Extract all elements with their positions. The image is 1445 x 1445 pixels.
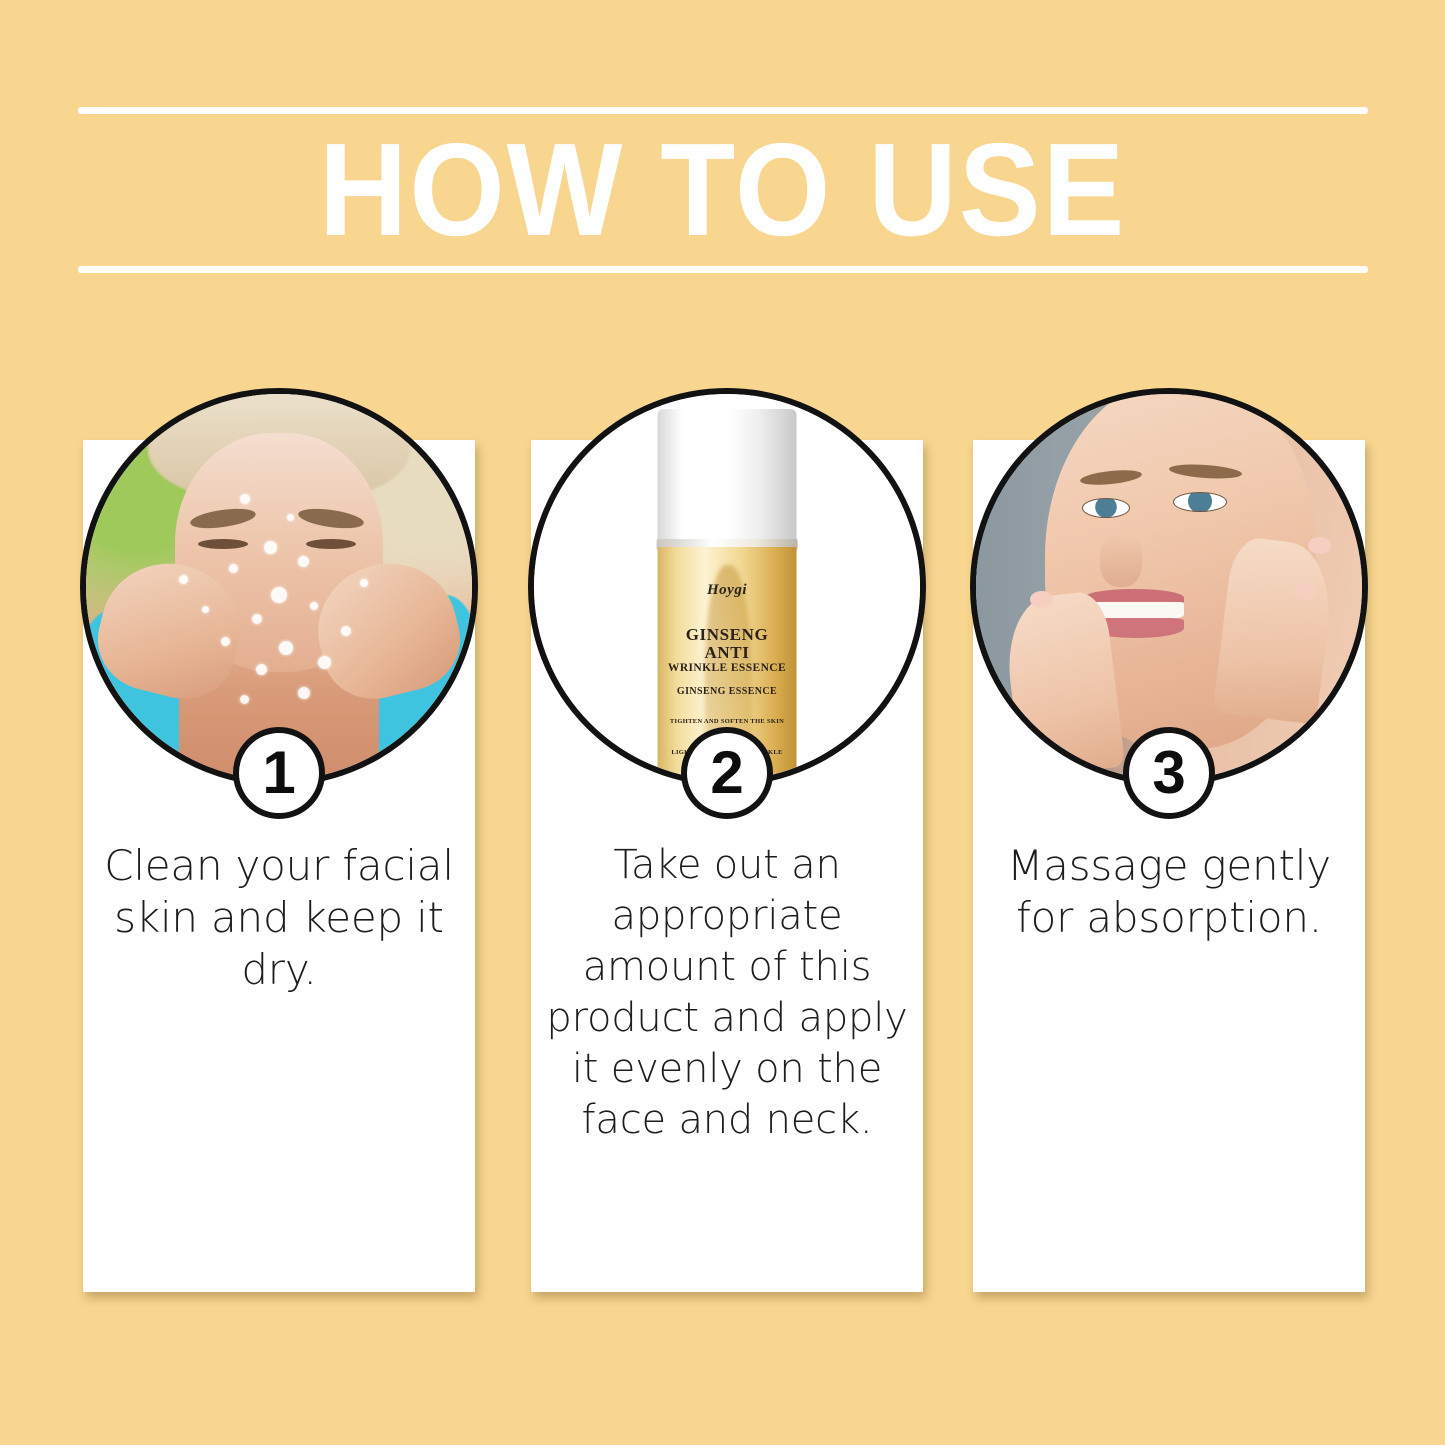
photo-woman-washing-face <box>86 394 472 780</box>
step-caption-1: Clean your facial skin and keep it dry. <box>97 840 461 996</box>
label-line-5: TIGHTEN AND SOFTEN THE SKIN <box>658 717 797 726</box>
step-caption-2: Take out an appropriate amount of this p… <box>545 840 909 1146</box>
steps-container: 1 Clean your facial skin and keep it dry… <box>0 0 1445 1445</box>
label-line-1: GINSENG <box>658 625 797 645</box>
step-card-1[interactable]: 1 Clean your facial skin and keep it dry… <box>83 440 475 1292</box>
photo-woman-massaging-face <box>976 394 1362 780</box>
step-number-badge-3: 3 <box>1123 727 1215 819</box>
bottle-cap <box>658 409 797 541</box>
label-line-4: GINSENG ESSENCE <box>658 686 797 697</box>
photo-product-bottle: Hoygi GINSENG ANTI WRINKLE ESSENCE GINSE… <box>534 394 920 780</box>
label-line-3: WRINKLE ESSENCE <box>658 662 797 674</box>
step-card-3[interactable]: 3 Massage gently for absorption. <box>973 440 1365 1292</box>
label-brand: Hoygi <box>658 582 797 599</box>
step-caption-3: Massage gently for absorption. <box>987 840 1351 944</box>
step-card-2[interactable]: Hoygi GINSENG ANTI WRINKLE ESSENCE GINSE… <box>531 440 923 1292</box>
label-line-2: ANTI <box>658 643 797 663</box>
step-number-badge-1: 1 <box>233 727 325 819</box>
step-number-badge-2: 2 <box>681 727 773 819</box>
